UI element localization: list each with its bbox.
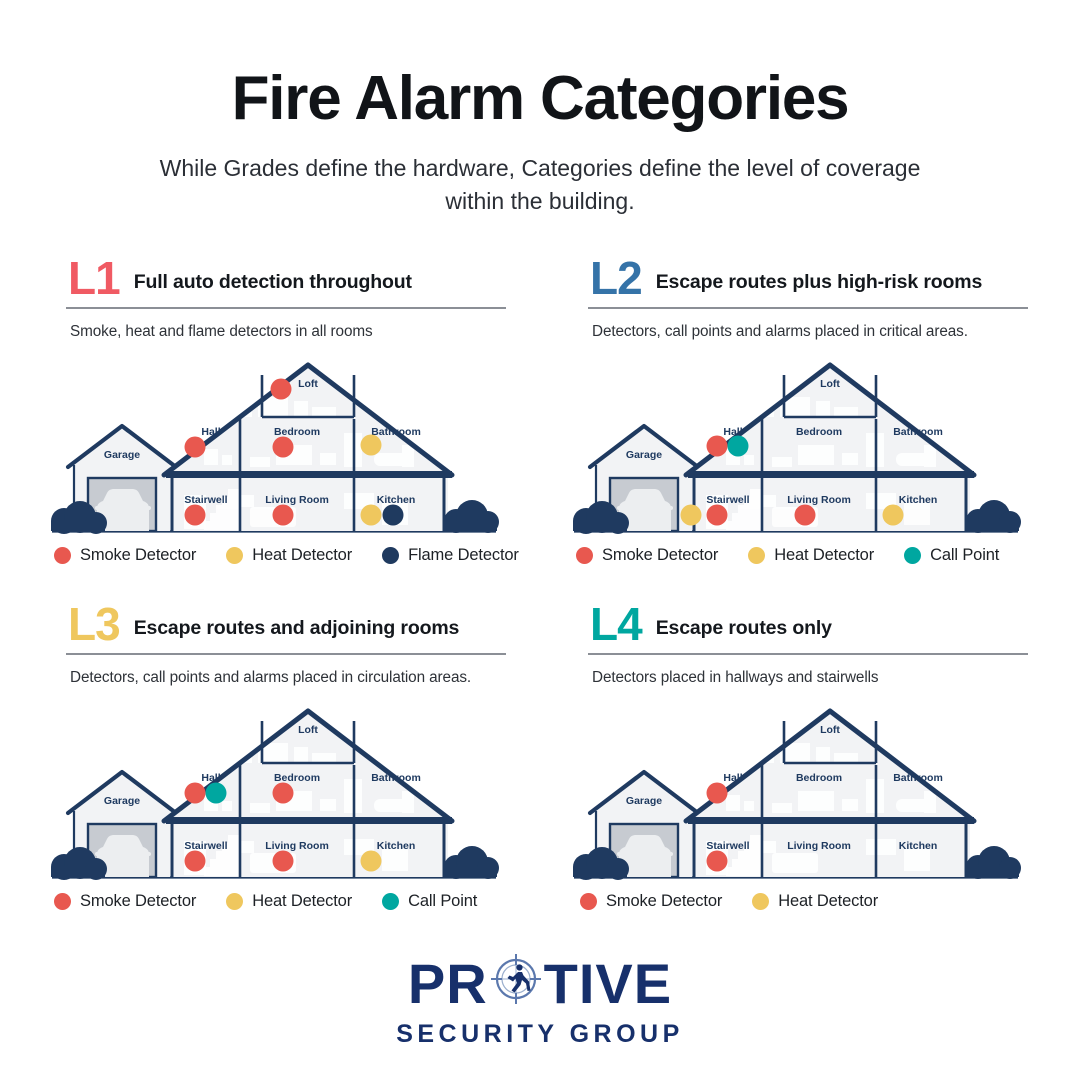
category-subtitle-l2: Detectors, call points and alarms placed…: [592, 323, 1066, 341]
house-wrapper-l1: Garage Loft Hall Bedroom Bathroom: [44, 345, 544, 540]
legend-item-heat: Heat Detector: [748, 546, 874, 565]
legend-label-smoke: Smoke Detector: [80, 546, 196, 565]
detector-smoke-stairwell[interactable]: [707, 851, 728, 872]
house-diagram-l2: Garage Loft Hall Bedroom Bathroom: [566, 345, 1026, 540]
detector-smoke-hall[interactable]: [185, 783, 206, 804]
house-diagram-l1: Garage Loft Hall Bedroom Bathroom: [44, 345, 504, 540]
detector-smoke-hall[interactable]: [185, 437, 206, 458]
infographic-page: Fire Alarm Categories While Grades defin…: [0, 0, 1080, 1080]
detector-heat-kitchen[interactable]: [361, 505, 382, 526]
legend-dot-smoke: [580, 893, 597, 910]
room-label-loft: Loft: [298, 378, 318, 390]
category-title-l4: Escape routes only: [656, 617, 832, 644]
house-diagram-l4: Garage Loft Hall Bedroom Bathroom: [566, 691, 1026, 886]
room-label-living-room: Living Room: [265, 494, 329, 506]
panel-header-l4: L4 Escape routes only: [566, 598, 1066, 644]
legend-dot-heat: [226, 547, 243, 564]
detector-smoke-living-room[interactable]: [273, 851, 294, 872]
detector-heat-kitchen[interactable]: [883, 505, 904, 526]
page-subtitle: While Grades define the hardware, Catego…: [145, 152, 935, 217]
panel-divider-l4: [588, 653, 1028, 655]
legend-dot-call-point: [904, 547, 921, 564]
category-panel-grid: L1 Full auto detection throughout Smoke,…: [0, 252, 1080, 943]
legend-label-smoke: Smoke Detector: [606, 892, 722, 911]
room-label-stairwell: Stairwell: [706, 840, 749, 852]
legend-l1: Smoke Detector Heat Detector Flame Detec…: [44, 546, 544, 565]
floor-slab: [688, 817, 974, 824]
house-wrapper-l3: Garage Loft Hall Bedroom Bathroom: [44, 691, 544, 886]
category-panel-l2: L2 Escape routes plus high-risk rooms De…: [566, 252, 1066, 597]
house-diagram-l3: Garage Loft Hall Bedroom Bathroom: [44, 691, 504, 886]
legend-l2: Smoke Detector Heat Detector Call Point: [566, 546, 1066, 565]
legend-item-smoke: Smoke Detector: [580, 892, 722, 911]
room-label-loft: Loft: [298, 724, 318, 736]
legend-item-heat: Heat Detector: [752, 892, 878, 911]
panel-divider-l2: [588, 307, 1028, 309]
legend-label-call-point: Call Point: [930, 546, 999, 565]
detector-smoke-living-room[interactable]: [273, 505, 294, 526]
detector-smoke-hall[interactable]: [707, 783, 728, 804]
room-label-kitchen: Kitchen: [899, 840, 938, 852]
room-label-bathroom: Bathroom: [371, 772, 421, 784]
room-label-bathroom: Bathroom: [371, 426, 421, 438]
detector-smoke-stairwell[interactable]: [707, 505, 728, 526]
legend-dot-heat: [226, 893, 243, 910]
category-subtitle-l1: Smoke, heat and flame detectors in all r…: [70, 323, 544, 341]
panel-header-l3: L3 Escape routes and adjoining rooms: [44, 598, 544, 644]
room-label-kitchen: Kitchen: [899, 494, 938, 506]
bush-right: [444, 846, 499, 879]
page-title: Fire Alarm Categories: [0, 68, 1080, 130]
room-label-bathroom: Bathroom: [893, 772, 943, 784]
detector-smoke-stairwell[interactable]: [185, 851, 206, 872]
legend-dot-heat: [748, 547, 765, 564]
category-title-l3: Escape routes and adjoining rooms: [134, 617, 460, 644]
panel-header-l1: L1 Full auto detection throughout: [44, 252, 544, 298]
room-label-bathroom: Bathroom: [893, 426, 943, 438]
crosshair-runner-icon: [489, 952, 543, 1015]
house-wrapper-l2: Garage Loft Hall Bedroom Bathroom: [566, 345, 1066, 540]
detector-heat-kitchen[interactable]: [361, 851, 382, 872]
legend-item-flame: Flame Detector: [382, 546, 519, 565]
bush-right: [966, 846, 1021, 879]
logo-text-part2: TIVE: [544, 956, 672, 1012]
category-subtitle-l4: Detectors placed in hallways and stairwe…: [592, 669, 1066, 687]
category-code-l3: L3: [68, 606, 120, 644]
room-label-kitchen: Kitchen: [377, 494, 416, 506]
detector-call-point-hall[interactable]: [206, 783, 227, 804]
legend-item-call-point: Call Point: [904, 546, 999, 565]
header: Fire Alarm Categories While Grades defin…: [0, 0, 1080, 217]
legend-dot-smoke: [54, 893, 71, 910]
room-label-bedroom: Bedroom: [796, 426, 842, 438]
legend-item-smoke: Smoke Detector: [576, 546, 718, 565]
room-label-hall: Hall: [201, 426, 220, 438]
room-label-hall: Hall: [201, 772, 220, 784]
bush-right: [966, 500, 1021, 533]
legend-item-smoke: Smoke Detector: [54, 892, 196, 911]
logo-wordmark: PR TIVE: [408, 952, 672, 1015]
panel-divider-l1: [66, 307, 506, 309]
room-label-living-room: Living Room: [787, 840, 851, 852]
legend-label-flame: Flame Detector: [408, 546, 519, 565]
category-code-l4: L4: [590, 606, 642, 644]
house-wrapper-l4: Garage Loft Hall Bedroom Bathroom: [566, 691, 1066, 886]
category-code-l1: L1: [68, 260, 120, 298]
detector-smoke-hall[interactable]: [707, 436, 728, 457]
room-label-loft: Loft: [820, 724, 840, 736]
legend-label-heat: Heat Detector: [252, 546, 352, 565]
logo-tagline: SECURITY GROUP: [0, 1020, 1080, 1049]
room-label-garage: Garage: [626, 795, 662, 807]
legend-label-heat: Heat Detector: [778, 892, 878, 911]
bush-right: [444, 500, 499, 533]
room-label-living-room: Living Room: [265, 840, 329, 852]
floor-slab: [166, 471, 452, 478]
category-panel-l1: L1 Full auto detection throughout Smoke,…: [44, 252, 544, 597]
detector-flame-kitchen[interactable]: [383, 505, 404, 526]
detector-heat-bathroom[interactable]: [361, 435, 382, 456]
legend-l3: Smoke Detector Heat Detector Call Point: [44, 892, 544, 911]
panel-header-l2: L2 Escape routes plus high-risk rooms: [566, 252, 1066, 298]
category-title-l2: Escape routes plus high-risk rooms: [656, 271, 983, 298]
legend-l4: Smoke Detector Heat Detector: [566, 892, 1066, 911]
detector-heat-garage[interactable]: [681, 505, 702, 526]
room-label-hall: Hall: [723, 772, 742, 784]
room-label-kitchen: Kitchen: [377, 840, 416, 852]
legend-item-heat: Heat Detector: [226, 546, 352, 565]
room-label-stairwell: Stairwell: [706, 494, 749, 506]
detector-smoke-loft[interactable]: [271, 379, 292, 400]
legend-dot-call-point: [382, 893, 399, 910]
room-label-garage: Garage: [104, 795, 140, 807]
legend-item-call-point: Call Point: [382, 892, 477, 911]
category-panel-l3: L3 Escape routes and adjoining rooms Det…: [44, 598, 544, 943]
legend-label-smoke: Smoke Detector: [602, 546, 718, 565]
room-label-bedroom: Bedroom: [274, 772, 320, 784]
detector-smoke-stairwell[interactable]: [185, 505, 206, 526]
detector-smoke-living-room[interactable]: [795, 505, 816, 526]
floor-slab: [688, 471, 974, 478]
category-title-l1: Full auto detection throughout: [134, 271, 412, 298]
room-label-loft: Loft: [820, 378, 840, 390]
logo-text-part1: PR: [408, 956, 488, 1012]
detector-call-point-hall[interactable]: [728, 436, 749, 457]
room-label-stairwell: Stairwell: [184, 840, 227, 852]
legend-dot-heat: [752, 893, 769, 910]
room-label-living-room: Living Room: [787, 494, 851, 506]
room-label-garage: Garage: [626, 449, 662, 461]
legend-dot-smoke: [576, 547, 593, 564]
panel-divider-l3: [66, 653, 506, 655]
room-label-bedroom: Bedroom: [274, 426, 320, 438]
legend-label-heat: Heat Detector: [252, 892, 352, 911]
legend-item-heat: Heat Detector: [226, 892, 352, 911]
room-label-garage: Garage: [104, 449, 140, 461]
room-label-stairwell: Stairwell: [184, 494, 227, 506]
category-subtitle-l3: Detectors, call points and alarms placed…: [70, 669, 544, 687]
category-panel-l4: L4 Escape routes only Detectors placed i…: [566, 598, 1066, 943]
legend-item-smoke: Smoke Detector: [54, 546, 196, 565]
legend-dot-flame: [382, 547, 399, 564]
legend-label-heat: Heat Detector: [774, 546, 874, 565]
detector-smoke-bedroom[interactable]: [273, 437, 294, 458]
floor-slab: [166, 817, 452, 824]
detector-smoke-bedroom[interactable]: [273, 783, 294, 804]
legend-label-smoke: Smoke Detector: [80, 892, 196, 911]
room-label-bedroom: Bedroom: [796, 772, 842, 784]
legend-dot-smoke: [54, 547, 71, 564]
brand-logo: PR TIVE SECURITY: [0, 952, 1080, 1049]
legend-label-call-point: Call Point: [408, 892, 477, 911]
category-code-l2: L2: [590, 260, 642, 298]
